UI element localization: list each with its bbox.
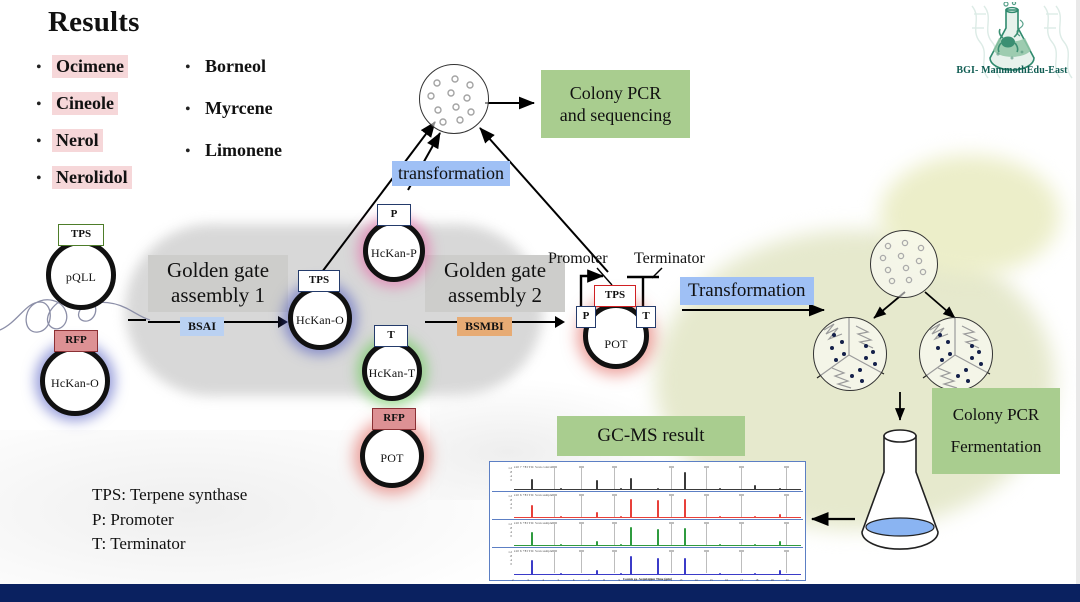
construct-cap-p: P [576, 306, 596, 328]
compound-limonene: Limonene [201, 139, 286, 162]
gcms-gridline [581, 467, 582, 489]
footer-bar [0, 584, 1080, 602]
slide-right-edge [1076, 0, 1080, 584]
gcms-gridline [614, 467, 615, 489]
plasmid-label: HcKan-O [296, 313, 344, 328]
gcms-y-axis: 1.2.8.40 [494, 522, 512, 546]
gcms-x-tick: 7 [588, 578, 590, 582]
gcms-gridline [614, 495, 615, 517]
plasmid-ring: HcKan-O [40, 346, 110, 416]
list-item: • Nerol [36, 129, 132, 152]
compound-myrcene: Myrcene [201, 97, 277, 120]
gcms-x-tick: 5 [558, 578, 560, 582]
gcms-gridline-cap [579, 550, 584, 552]
gcms-trace: x10 6 +EI TIC Scan sample3.D1.2.8.40 [492, 548, 803, 576]
gcms-gridline-cap [552, 494, 557, 496]
gcms-gridline-cap [739, 466, 744, 468]
legend-line-tps: TPS: Terpene synthase [92, 483, 247, 508]
gcms-x-tick: 15 [710, 578, 713, 582]
gcms-gridline-cap [612, 550, 617, 552]
plasmid-label: HcKan-P [371, 246, 417, 261]
gcms-baseline [514, 489, 801, 490]
gcms-trace-header: x10 7 +EI TIC Scan control.D [514, 465, 556, 469]
list-item: • Ocimene [36, 55, 132, 78]
plasmid-ring: pQLL [46, 240, 116, 310]
gcms-peak [684, 472, 686, 489]
gcms-baseline [514, 545, 801, 546]
gcms-gridline-cap [784, 466, 789, 468]
plasmid-label: HcKan-T [369, 366, 416, 381]
bullet-icon: • [36, 134, 52, 150]
gcms-trace: x10 6 +EI TIC Scan sample1.D1.2.8.40 [492, 492, 803, 520]
gcms-gridline-cap [704, 466, 709, 468]
plasmid-ring: HcKan-O [288, 286, 352, 350]
gcms-x-tick: 17 [740, 578, 743, 582]
plasmid-cap-p: P [377, 204, 411, 226]
gcms-x-tick: 3 [527, 578, 529, 582]
gcms-x-tick: 4 [542, 578, 544, 582]
gcms-gridline-cap [612, 522, 617, 524]
gcms-gridline [581, 495, 582, 517]
transformation-label-left: transformation [392, 161, 510, 186]
gcms-baseline [514, 574, 801, 575]
plasmid-label: HcKan-O [51, 376, 99, 391]
terminator-annotation: Terminator [634, 250, 705, 268]
gcms-gridline-cap [552, 550, 557, 552]
gcms-gridline [741, 467, 742, 489]
gcms-gridline-cap [579, 466, 584, 468]
gcms-peak [657, 558, 659, 574]
gcms-gridline [741, 495, 742, 517]
gcms-trace: x10 7 +EI TIC Scan control.D1.2.8.40 [492, 464, 803, 492]
gcms-gridline [741, 551, 742, 573]
plasmid-label: POT [604, 337, 627, 352]
gcms-peak [684, 499, 686, 517]
plasmid-cap-tps: TPS [58, 224, 104, 246]
gcms-gridline-cap [612, 494, 617, 496]
gcms-trace-panels: x10 7 +EI TIC Scan control.D1.2.8.40x10 … [492, 464, 803, 576]
gcms-gridline [786, 551, 787, 573]
gcms-baseline [514, 517, 801, 518]
legend-line-p: P: Promoter [92, 508, 247, 533]
gcms-gridline-cap [704, 522, 709, 524]
assembly2-title: Golden gate assembly 2 [425, 255, 565, 312]
colony-pcr-fermentation-box: Colony PCR Fermentation [932, 388, 1060, 474]
gcms-gridline-cap [669, 494, 674, 496]
plasmid-ring: HcKan-T [362, 341, 422, 401]
gcms-chromatogram: x10 7 +EI TIC Scan control.D1.2.8.40x10 … [489, 461, 806, 581]
compound-nerolidol: Nerolidol [52, 166, 132, 189]
gcms-gridline [706, 551, 707, 573]
gcms-gridline [706, 495, 707, 517]
assembly1-title: Golden gate assembly 1 [148, 255, 288, 312]
list-item: • Nerolidol [36, 166, 132, 189]
bullet-icon: • [36, 171, 52, 187]
enzyme-bsmbi: BSMBI [457, 317, 512, 336]
flask-logo-icon [990, 2, 1034, 70]
legend-line-t: T: Terminator [92, 532, 247, 557]
compound-ocimene: Ocimene [52, 55, 128, 78]
gcms-peak [531, 505, 533, 517]
gcms-x-tick: 12 [664, 578, 667, 582]
gcms-gridline-cap [579, 494, 584, 496]
gcms-gridline-cap [784, 494, 789, 496]
bullet-icon: • [185, 102, 201, 118]
gcms-gridline [671, 523, 672, 545]
gcms-gridline [741, 523, 742, 545]
gcms-x-tick: 8 [603, 578, 605, 582]
gcms-peak [657, 529, 659, 545]
streak-plate-right [919, 317, 993, 391]
plasmid-label: POT [380, 451, 403, 466]
gcms-y-axis: 1.2.8.40 [494, 550, 512, 574]
gcms-gridline-cap [669, 466, 674, 468]
gcms-gridline [671, 495, 672, 517]
list-item: • Myrcene [185, 97, 286, 120]
gcms-gridline [554, 551, 555, 573]
gcms-gridline-cap [784, 550, 789, 552]
gcms-gridline [706, 523, 707, 545]
bullet-icon: • [185, 144, 201, 160]
gcms-gridline-cap [739, 550, 744, 552]
bullet-icon: • [36, 97, 52, 113]
gcms-x-tick: 13 [679, 578, 682, 582]
colony-pcr-sequencing-box: Colony PCR and sequencing [541, 70, 690, 138]
plasmid-ring: HcKan-P [363, 220, 425, 282]
gcms-gridline [786, 467, 787, 489]
gcms-gridline-cap [784, 522, 789, 524]
gcms-trace: x10 6 +EI TIC Scan sample2.D1.2.8.40 [492, 520, 803, 548]
fermentation-label: Fermentation [951, 437, 1042, 457]
gcms-gridline-cap [704, 494, 709, 496]
gcms-x-tick: 16 [725, 578, 728, 582]
gcms-gridline-cap [669, 522, 674, 524]
gcms-x-tick: 18 [755, 578, 758, 582]
gcms-y-axis: 1.2.8.40 [494, 494, 512, 518]
gcms-gridline [614, 551, 615, 573]
gcms-y-axis: 1.2.8.40 [494, 466, 512, 490]
promoter-annotation: Promoter [548, 250, 608, 268]
gcms-result-box: GC-MS result [557, 416, 745, 456]
gcms-peak [531, 560, 533, 574]
plasmid-label: pQLL [66, 270, 96, 285]
gcms-peak [531, 532, 533, 545]
gcms-peak [684, 528, 686, 545]
gcms-gridline [671, 467, 672, 489]
gcms-gridline-cap [552, 522, 557, 524]
transformation-petri-dish [419, 64, 489, 134]
compound-borneol: Borneol [201, 55, 270, 78]
construct-cap-tps: TPS [594, 285, 636, 307]
gcms-x-tick: 2 [512, 578, 514, 582]
gcms-gridline-cap [552, 466, 557, 468]
abbreviation-legend: TPS: Terpene synthase P: Promoter T: Ter… [92, 483, 247, 557]
gcms-x-tick: 20 [786, 578, 789, 582]
gcms-gridline [554, 523, 555, 545]
gcms-x-tick: 11 [649, 578, 652, 582]
bullet-icon: • [36, 60, 52, 76]
slide-canvas: Results • Ocimene • Cineole • Nerol • Ne… [0, 0, 1080, 602]
plasmid-cap-t: T [374, 325, 408, 347]
gcms-gridline [581, 551, 582, 573]
plasmid-cap-rfp: RFP [372, 408, 416, 430]
gcms-peak [684, 558, 686, 575]
page-title: Results [48, 6, 140, 39]
gcms-gridline [786, 523, 787, 545]
colony-pcr-label: Colony PCR [953, 405, 1039, 425]
gcms-gridline [706, 467, 707, 489]
gcms-gridline [786, 495, 787, 517]
bullet-list-right: • Borneol • Myrcene • Limonene [185, 55, 286, 181]
gcms-gridline [554, 495, 555, 517]
gcms-gridline-cap [579, 522, 584, 524]
golden-gate-assembly-1: Golden gate assembly 1 BSAI [148, 255, 288, 330]
bullet-list-left: • Ocimene • Cineole • Nerol • Nerolidol [36, 55, 132, 203]
list-item: • Cineole [36, 92, 132, 115]
gcms-x-tick: 19 [771, 578, 774, 582]
organization-logo: BGI- MammothEdu-East [948, 2, 1076, 84]
gcms-x-tick: 9 [618, 578, 620, 582]
colony-petri-dish-right [870, 230, 938, 298]
gcms-peak [630, 527, 632, 545]
gcms-x-tick: 14 [695, 578, 698, 582]
enzyme-bsai: BSAI [180, 317, 224, 336]
compound-cineole: Cineole [52, 92, 118, 115]
list-item: • Borneol [185, 55, 286, 78]
gcms-peak [630, 499, 632, 517]
bullet-icon: • [185, 60, 201, 76]
colony-pcr-line1: Colony PCR [570, 82, 662, 105]
gcms-peak [657, 500, 659, 517]
gcms-gridline [554, 467, 555, 489]
gcms-peak [531, 479, 533, 489]
plasmid-cap-rfp: RFP [54, 330, 98, 352]
gcms-gridline [614, 523, 615, 545]
gcms-gridline [581, 523, 582, 545]
gcms-gridline-cap [739, 522, 744, 524]
gcms-gridline-cap [612, 466, 617, 468]
gcms-peak [630, 478, 632, 489]
logo-text: BGI- MammothEdu-East [948, 65, 1076, 76]
gcms-gridline-cap [704, 550, 709, 552]
plasmid-ring: POT [360, 424, 424, 488]
gcms-x-tick: 10 [634, 578, 637, 582]
gcms-x-tick: 6 [573, 578, 575, 582]
golden-gate-assembly-2: Golden gate assembly 2 BSMBI [425, 255, 565, 330]
colony-pcr-line2: and sequencing [560, 104, 671, 127]
gcms-gridline [671, 551, 672, 573]
construct-cap-t: T [636, 306, 656, 328]
gcms-gridline-cap [669, 550, 674, 552]
streak-plate-left [813, 317, 887, 391]
transformation-label-right: Transformation [680, 277, 814, 305]
gcms-peak [630, 556, 632, 574]
compound-nerol: Nerol [52, 129, 103, 152]
list-item: • Limonene [185, 139, 286, 162]
plasmid-cap-tps: TPS [298, 270, 340, 292]
gcms-gridline-cap [739, 494, 744, 496]
